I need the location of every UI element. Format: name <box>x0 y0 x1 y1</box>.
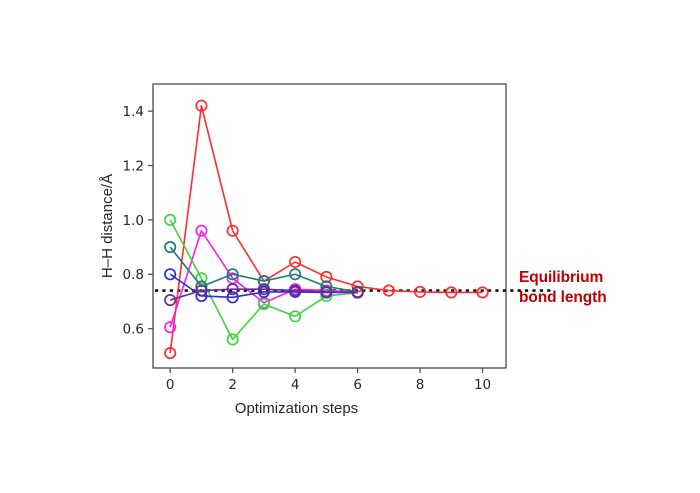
y-axis-title: H–H distance/Å <box>99 174 116 278</box>
x-tick-label-0: 0 <box>166 377 175 393</box>
chart-figure: 02468100.60.81.01.21.4Optimization steps… <box>0 0 700 493</box>
x-axis-title: Optimization steps <box>235 400 358 417</box>
line-chart: 02468100.60.81.01.21.4Optimization steps… <box>0 0 700 493</box>
x-tick-label-10: 10 <box>474 377 491 393</box>
y-tick-label-1.2: 1.2 <box>123 159 144 175</box>
equilibrium-bond-length-annotation: Equilibrium bond length <box>519 268 607 308</box>
x-tick-label-6: 6 <box>353 377 362 393</box>
x-tick-label-2: 2 <box>228 377 237 393</box>
x-tick-label-8: 8 <box>416 377 425 393</box>
x-tick-label-4: 4 <box>291 377 300 393</box>
y-tick-label-0.6: 0.6 <box>123 322 144 338</box>
y-tick-label-0.8: 0.8 <box>123 267 144 283</box>
y-tick-label-1.4: 1.4 <box>123 104 144 120</box>
y-tick-label-1.0: 1.0 <box>123 213 144 229</box>
